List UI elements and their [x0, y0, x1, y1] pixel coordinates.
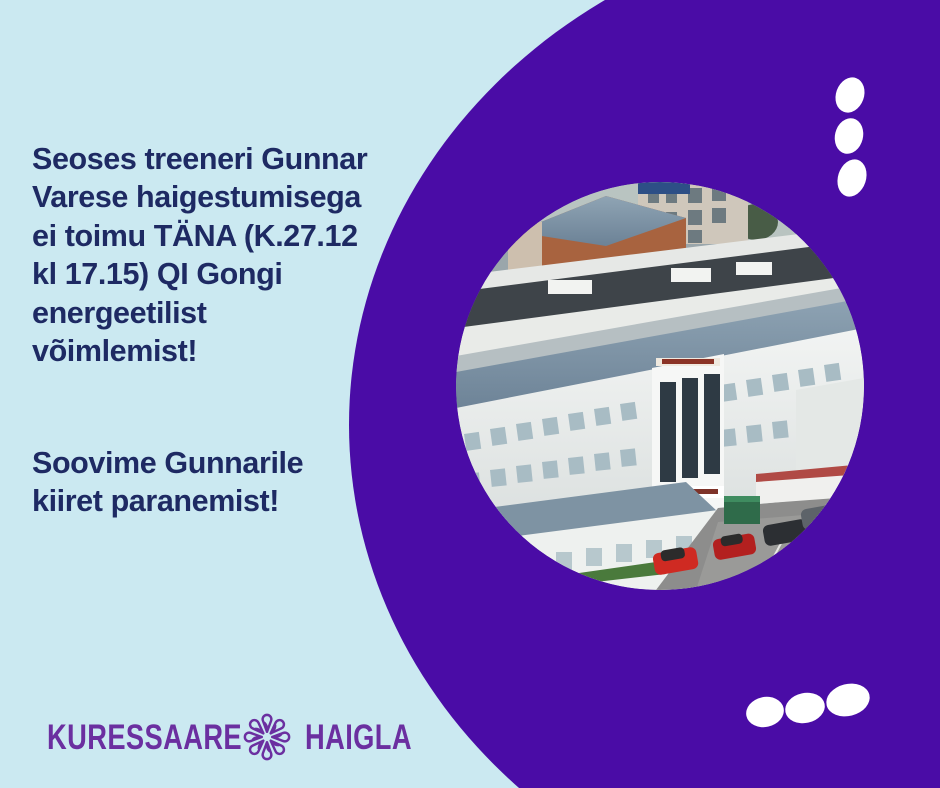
poster-canvas: Seoses treeneri Gunnar Varese haigestumi… — [0, 0, 940, 788]
announcement-paragraph-2: Soovime Gunnarile kiiret paranemist! — [32, 444, 372, 521]
logo-word-haigla: HAIGLA — [305, 720, 412, 755]
announcement-text: Seoses treeneri Gunnar Varese haigestumi… — [32, 101, 372, 559]
hospital-photo — [456, 182, 864, 590]
decor-dots-right — [831, 73, 871, 200]
snowflake-icon — [238, 708, 296, 766]
decor-dots-bottom — [743, 679, 873, 730]
announcement-paragraph-1: Seoses treeneri Gunnar Varese haigestumi… — [32, 140, 372, 371]
decor-dot — [833, 156, 871, 201]
decor-dot — [743, 693, 786, 730]
decor-dot — [831, 115, 867, 157]
logo-word-right-wrap: HAIGLA — [305, 720, 415, 755]
logo-word-kuressaare: KURESSAARE — [47, 720, 242, 755]
decor-dot — [782, 689, 827, 727]
decor-dot — [823, 679, 873, 721]
logo-word-left-wrap: KURESSAARE — [47, 720, 229, 755]
decor-dot — [831, 73, 870, 116]
brand-logo: KURESSAARE HAIGLA — [47, 708, 415, 766]
